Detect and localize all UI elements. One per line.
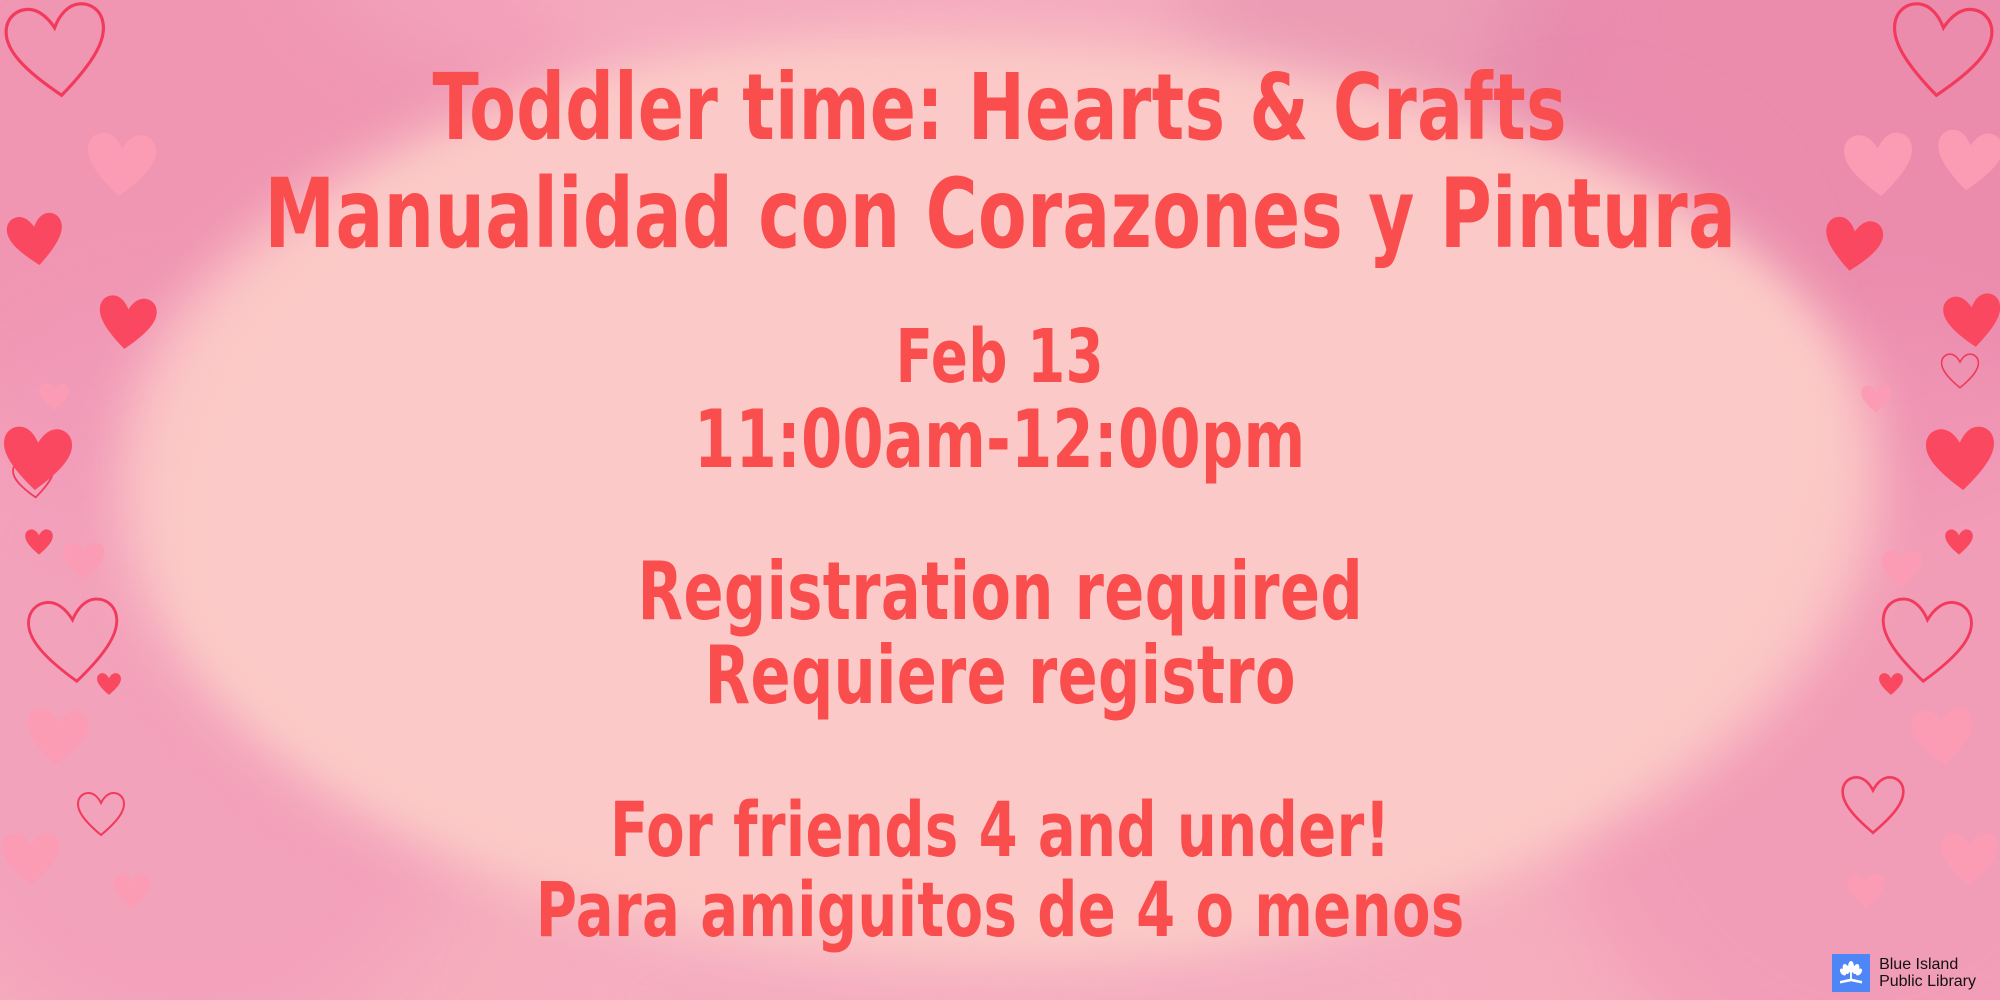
- event-date: Feb 13: [694, 320, 1305, 394]
- title-english: Toddler time: Hearts & Crafts: [433, 62, 1567, 154]
- title-spanish: Manualidad con Corazones y Pintura: [264, 166, 1736, 262]
- library-logo: Blue Island Public Library: [1832, 954, 1976, 992]
- event-flyer: Toddler time: Hearts & Crafts Manualidad…: [0, 0, 2000, 1000]
- tree-book-icon: [1832, 954, 1870, 992]
- registration-block: Registration required Requiere registro: [558, 552, 1443, 716]
- logo-line-2: Public Library: [1879, 973, 1976, 990]
- logo-line-1: Blue Island: [1879, 956, 1976, 973]
- registration-english: Registration required: [637, 552, 1362, 632]
- event-time: 11:00am-12:00pm: [694, 400, 1305, 480]
- library-logo-text: Blue Island Public Library: [1879, 956, 1976, 991]
- date-time-block: Feb 13 11:00am-12:00pm: [627, 320, 1373, 480]
- flyer-text-content: Toddler time: Hearts & Crafts Manualidad…: [0, 0, 2000, 1000]
- age-english: For friends 4 and under!: [536, 792, 1465, 868]
- registration-spanish: Requiere registro: [637, 636, 1362, 716]
- age-block: For friends 4 and under! Para amiguitos …: [434, 792, 1567, 948]
- age-spanish: Para amiguitos de 4 o menos: [536, 872, 1465, 948]
